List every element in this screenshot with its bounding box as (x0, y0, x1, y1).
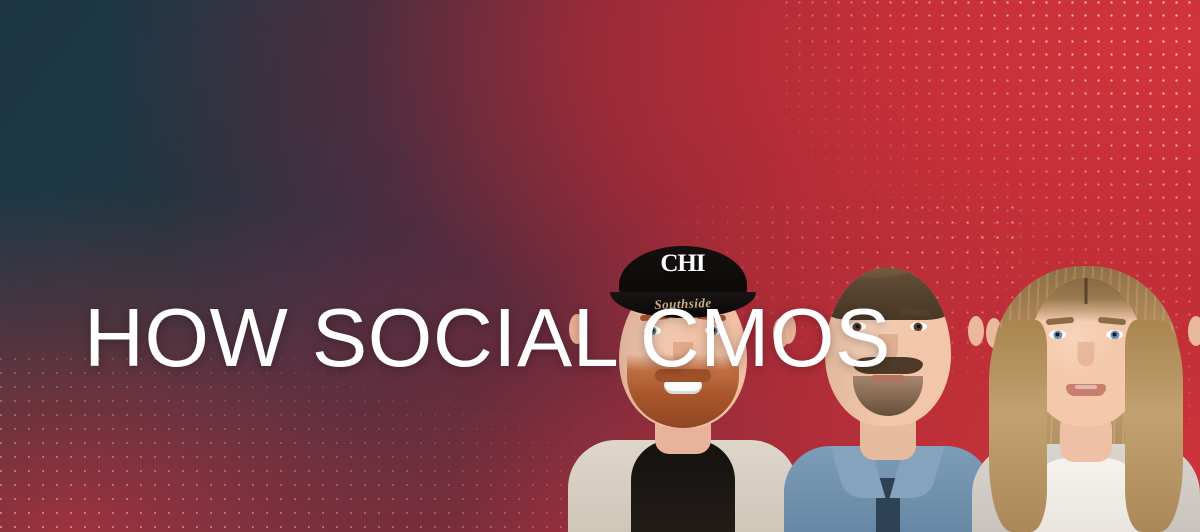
person-right-eye-left (1049, 330, 1066, 339)
person-right-lip-highlight (1075, 385, 1097, 389)
person-right-woman (973, 252, 1199, 532)
banner-headline: HOW SOCIAL CMOS TURN SIGNALS INTO STRATE… (84, 108, 926, 532)
person-right-hair-side-left (989, 320, 1047, 532)
person-right-nose (1078, 342, 1095, 366)
person-right-ear-right (1188, 316, 1200, 346)
person-right-hair-side-right (1125, 320, 1183, 532)
person-right-hair-part (1085, 278, 1088, 304)
person-right-eye-right (1106, 330, 1123, 339)
headline-line-1: HOW SOCIAL CMOS (84, 292, 926, 384)
promo-banner: HOW SOCIAL CMOS TURN SIGNALS INTO STRATE… (0, 0, 1200, 532)
person-right-ear-left (968, 316, 984, 346)
